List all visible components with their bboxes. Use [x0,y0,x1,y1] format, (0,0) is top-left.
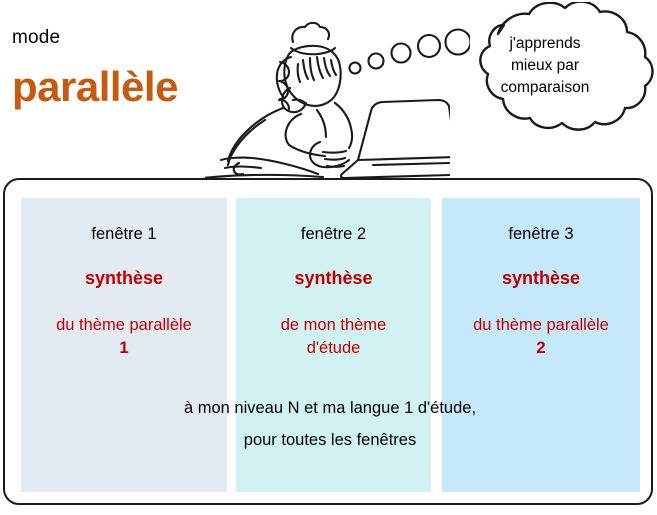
window-subtitle-2: de mon thème d'étude [236,314,431,360]
window-subtitle-2-line1: de mon thème [281,316,386,334]
mode-label: mode [12,27,60,49]
window-subtitle-3: du thème parallèle 2 [442,314,640,360]
window-subtitle-2-line2: d'étude [236,337,431,360]
window-heading-3: synthèse [442,268,640,289]
thought-bubble-text: j'apprends mieux par comparaison [455,33,635,99]
window-column-2[interactable]: fenêtre 2 synthèse de mon thème d'étude [236,198,431,492]
bubble-line-3: comparaison [455,77,635,99]
window-column-3[interactable]: fenêtre 3 synthèse du thème parallèle 2 [442,198,640,492]
bubble-line-2: mieux par [455,55,635,77]
window-subtitle-3-line1: du thème parallèle [473,316,609,334]
window-heading-2: synthèse [236,268,431,289]
window-subtitle-1-line2: 1 [21,337,227,360]
header: mode parallèle [0,0,657,178]
bubble-line-1: j'apprends [455,33,635,55]
window-columns: fenêtre 1 synthèse du thème parallèle 1 … [5,180,655,507]
window-heading-1: synthèse [21,268,227,289]
window-title-2: fenêtre 2 [236,225,431,244]
window-column-1[interactable]: fenêtre 1 synthèse du thème parallèle 1 [21,198,227,492]
window-title-1: fenêtre 1 [21,225,227,244]
window-subtitle-3-line2: 2 [442,337,640,360]
window-subtitle-1-line1: du thème parallèle [56,316,192,334]
window-title-3: fenêtre 3 [442,225,640,244]
page-title: parallèle [12,66,178,108]
parallel-mode-panel: fenêtre 1 synthèse du thème parallèle 1 … [3,178,653,505]
window-subtitle-1: du thème parallèle 1 [21,314,227,360]
